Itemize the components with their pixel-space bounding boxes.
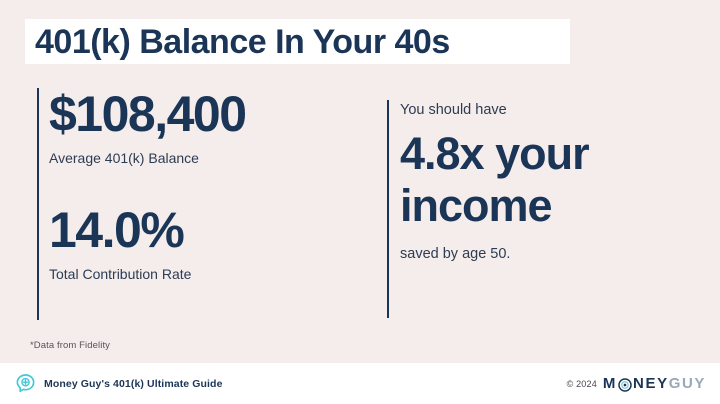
brand-text-ney: NEY: [633, 376, 669, 391]
data-source-footnote: *Data from Fidelity: [30, 340, 110, 351]
contribution-rate-value: 14.0%: [49, 202, 369, 258]
brand-text-m: M: [603, 376, 617, 391]
right-column-divider: [387, 100, 389, 318]
target-lead-text: You should have: [400, 100, 700, 120]
contribution-rate-caption: Total Contribution Rate: [49, 264, 369, 284]
copyright-text: © 2024: [567, 379, 597, 389]
right-message-column: You should have 4.8x your income saved b…: [400, 100, 700, 264]
left-stats-column: $108,400 Average 401(k) Balance 14.0% To…: [49, 86, 369, 284]
page-title: 401(k) Balance In Your 40s: [35, 20, 450, 64]
speech-bubble-plus-icon: [15, 373, 36, 394]
brand-text-guy: GUY: [669, 376, 706, 391]
footer-brand-group: © 2024 M NEY GUY: [567, 376, 706, 391]
footer-bar: Money Guy's 401(k) Ultimate Guide © 2024…: [0, 363, 720, 404]
target-trailing-text: saved by age 50.: [400, 244, 700, 264]
average-balance-value: $108,400: [49, 86, 369, 142]
left-column-divider: [37, 88, 39, 320]
target-multiple-line-1: 4.8x your: [400, 128, 700, 180]
infographic-canvas: 401(k) Balance In Your 40s $108,400 Aver…: [0, 0, 720, 404]
moneyguy-logo[interactable]: M NEY GUY: [603, 376, 706, 391]
footer-guide-label: Money Guy's 401(k) Ultimate Guide: [44, 378, 223, 390]
stat-spacer: [49, 168, 369, 202]
footer-guide-link[interactable]: Money Guy's 401(k) Ultimate Guide: [15, 373, 223, 394]
average-balance-caption: Average 401(k) Balance: [49, 148, 369, 168]
brand-target-o-icon: [618, 378, 632, 392]
target-multiple-line-2: income: [400, 180, 700, 232]
